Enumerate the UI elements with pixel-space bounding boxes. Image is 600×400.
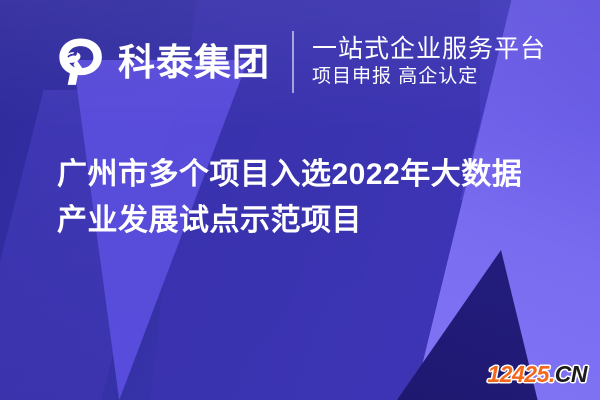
- brand-lockup: 科泰集团: [52, 34, 270, 90]
- banner-header: 科泰集团 一站式企业服务平台 项目申报 高企认定: [0, 18, 600, 106]
- tagline-secondary: 项目申报 高企认定: [312, 64, 546, 90]
- tagline-primary: 一站式企业服务平台: [312, 34, 546, 65]
- headline-title: 广州市多个项目入选2022年大数据产业发展试点示范项目: [57, 152, 547, 244]
- site-watermark: 12425 . CN: [487, 363, 587, 386]
- ketai-logo-icon: [52, 34, 108, 90]
- watermark-tld: CN: [555, 363, 587, 386]
- watermark-number: 12425: [487, 363, 548, 386]
- brand-name: 科泰集团: [118, 44, 270, 81]
- promotional-banner: 科泰集团 一站式企业服务平台 项目申报 高企认定 广州市多个项目入选2022年大…: [0, 0, 600, 400]
- header-tagline: 一站式企业服务平台 项目申报 高企认定: [312, 34, 546, 90]
- header-divider: [292, 31, 294, 93]
